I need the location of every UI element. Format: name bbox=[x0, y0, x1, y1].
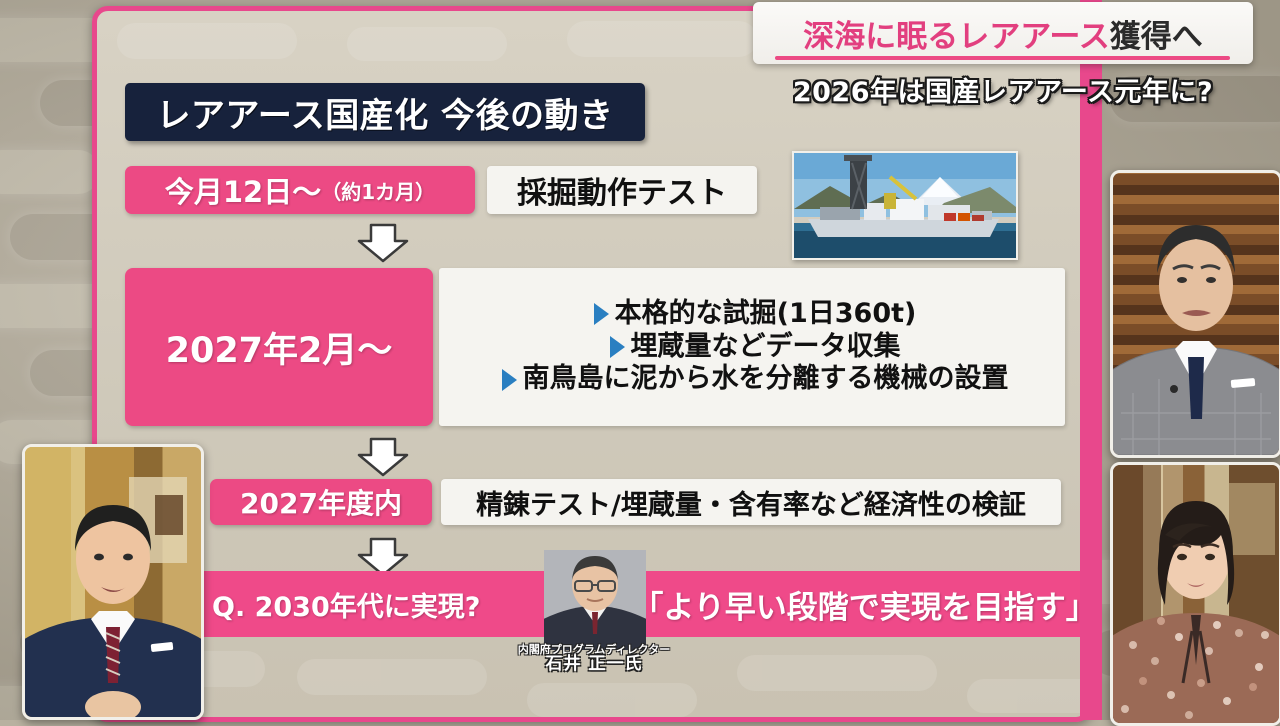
timeline-row-1: 今月12日〜（約1カ月） 採掘動作テスト bbox=[125, 166, 757, 214]
bullet-text: 埋蔵量などデータ収集 bbox=[631, 331, 901, 364]
row1-description: 採掘動作テスト bbox=[487, 166, 757, 214]
triangle-right-icon bbox=[594, 303, 609, 325]
headline-text: 深海に眠るレアアース獲得へ bbox=[803, 11, 1203, 56]
triangle-right-icon bbox=[610, 336, 625, 358]
studio-inset-anchor bbox=[22, 444, 204, 720]
page-title: レアアース国産化 今後の動き bbox=[156, 88, 613, 137]
qa-answer: 「より早い段階で実現を目指す」 bbox=[632, 582, 1092, 627]
studio-inset-reporter bbox=[1110, 462, 1280, 726]
row3-date-tag: 2027年度内 bbox=[210, 479, 432, 525]
timeline-row-2: 2027年2月〜 本格的な試掘(1日360t) 埋蔵量などデータ収集 南鳥島に泥… bbox=[125, 268, 1065, 426]
row1-date-main: 今月12日〜 bbox=[165, 169, 321, 211]
infographic-panel: レアアース国産化 今後の動き bbox=[92, 6, 1092, 722]
expert-caption: 内閣府プログラムディレクター 石井 正一氏 bbox=[499, 644, 689, 673]
studio-inset-guest bbox=[1110, 170, 1280, 458]
row1-date-tag: 今月12日〜（約1カ月） bbox=[125, 166, 475, 214]
arrow-down-icon bbox=[355, 437, 411, 477]
timeline-row-3: 2027年度内 精錬テスト/埋蔵量・含有率など経済性の検証 bbox=[210, 479, 1061, 525]
headline-rest: 獲得へ bbox=[1110, 19, 1203, 55]
headline-banner: 深海に眠るレアアース獲得へ bbox=[753, 2, 1253, 64]
headline-highlight: 深海に眠るレアアース bbox=[803, 19, 1110, 55]
list-item: 埋蔵量などデータ収集 bbox=[610, 331, 901, 364]
drilling-ship-photo bbox=[792, 151, 1018, 260]
row1-date-sub: （約1カ月） bbox=[321, 176, 435, 205]
subtitle-text: 2026年は国産レアアース元年に? bbox=[793, 70, 1213, 109]
list-item: 本格的な試掘(1日360t) bbox=[594, 298, 917, 331]
triangle-right-icon bbox=[502, 369, 517, 391]
bullet-text: 南鳥島に泥から水を分離する機械の設置 bbox=[523, 363, 1009, 396]
qa-question: Q. 2030年代に実現? bbox=[212, 585, 480, 624]
bullet-text: 本格的な試掘(1日360t) bbox=[615, 298, 917, 331]
headline-subtitle: 2026年は国産レアアース元年に? bbox=[753, 72, 1253, 106]
expert-name: 石井 正一氏 bbox=[499, 656, 689, 674]
list-item: 南鳥島に泥から水を分離する機械の設置 bbox=[502, 363, 1009, 396]
headline-underline bbox=[775, 56, 1230, 60]
expert-photo bbox=[544, 550, 646, 650]
row2-bullet-list: 本格的な試掘(1日360t) 埋蔵量などデータ収集 南鳥島に泥から水を分離する機… bbox=[439, 268, 1065, 426]
panel-title-bar: レアアース国産化 今後の動き bbox=[125, 83, 645, 141]
row2-date-tag: 2027年2月〜 bbox=[125, 268, 433, 426]
row3-description: 精錬テスト/埋蔵量・含有率など経済性の検証 bbox=[441, 479, 1061, 525]
arrow-down-icon bbox=[355, 223, 411, 263]
